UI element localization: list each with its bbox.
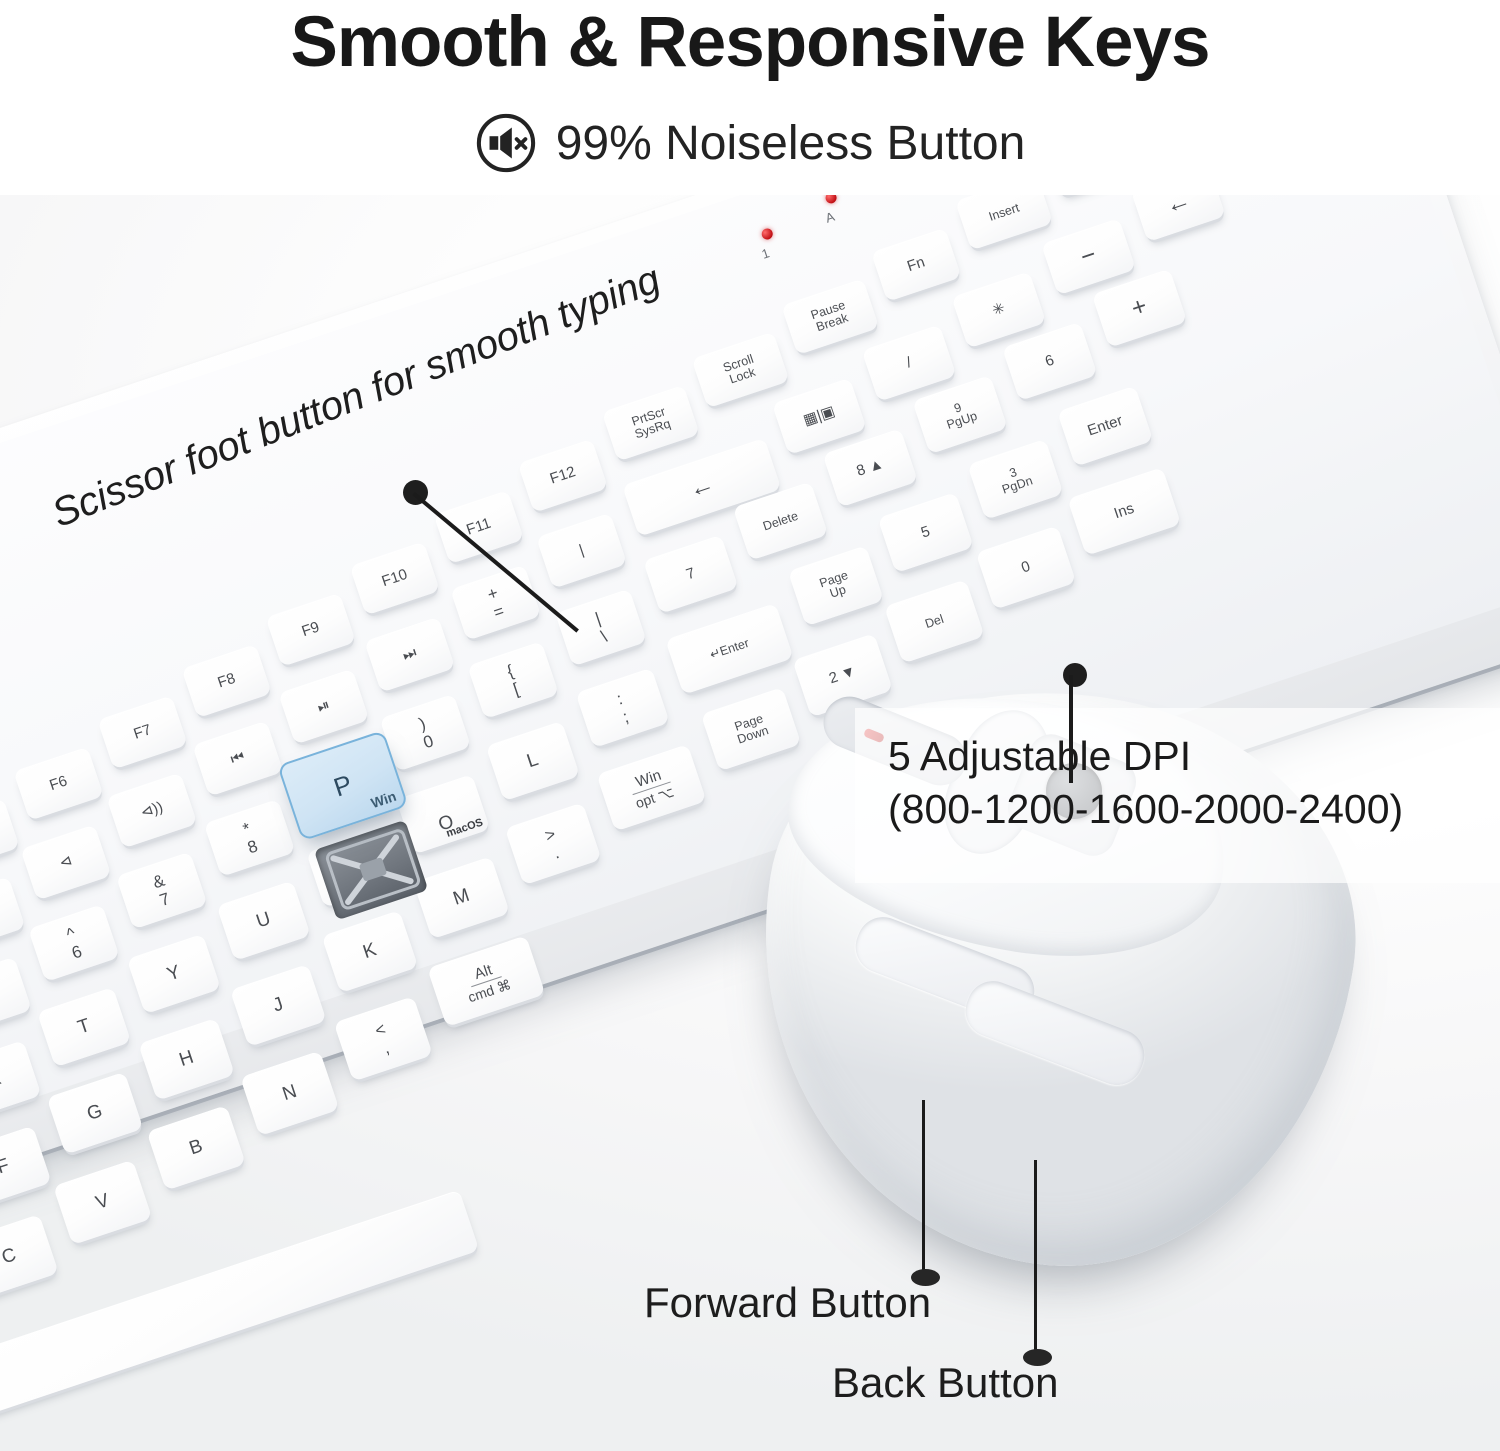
key-c[interactable]: C [0,1214,59,1299]
key-p-win-legend: Win [369,788,398,811]
dpi-callout-dot [1063,663,1087,687]
forward-button-label: Forward Button [644,1279,931,1327]
key-b[interactable]: B [147,1105,246,1190]
forward-callout-line [922,1100,925,1275]
back-button-label: Back Button [832,1359,1058,1407]
key-p-label: P [330,768,356,803]
page-title: Smooth & Responsive Keys [0,2,1500,83]
mute-speaker-icon [475,112,537,174]
noiseless-subtitle-row: 99% Noiseless Button [0,112,1500,174]
key-v[interactable]: V [53,1160,152,1245]
dpi-callout-line1: 5 Adjustable DPI [888,730,1500,783]
dpi-callout-line [1069,675,1073,783]
dpi-callout-line2: (800-1200-1600-2000-2400) [888,783,1500,836]
back-callout-line [1034,1160,1037,1355]
product-photo: 1 A ⇆⚡ ⬓ ON OFF F5 F6 F7 F8 F9 F10 F11 F… [0,195,1500,1451]
product-feature-graphic: Smooth & Responsive Keys 99% Noiseless B… [0,0,1500,1451]
dpi-callout-text: 5 Adjustable DPI (800-1200-1600-2000-240… [888,730,1500,837]
noiseless-subtitle-text: 99% Noiseless Button [556,116,1026,171]
